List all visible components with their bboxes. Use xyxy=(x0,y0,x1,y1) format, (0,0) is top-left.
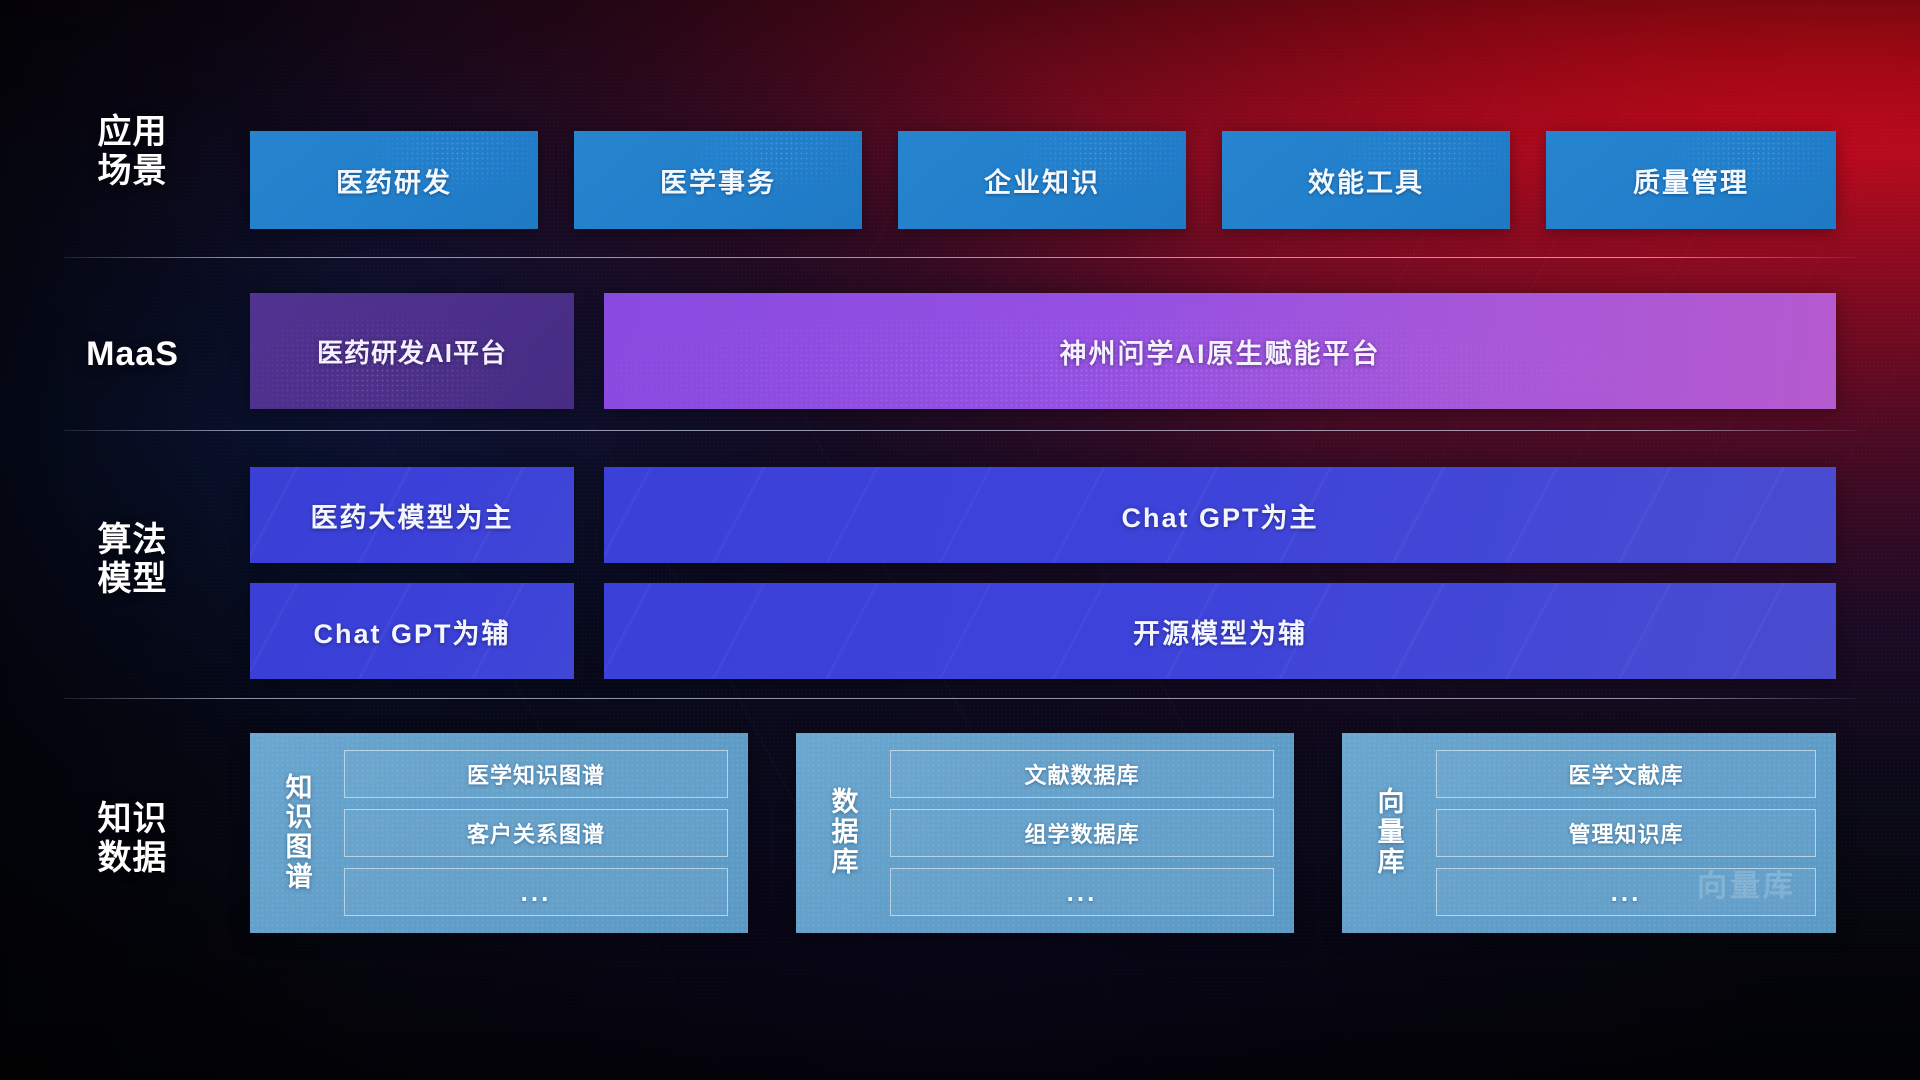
maas-box-label: 医药研发AI平台 xyxy=(317,333,507,370)
vertical-label-char: 量 xyxy=(1360,818,1422,848)
knowledge-item[interactable]: 组学数据库 xyxy=(890,809,1274,857)
app-box-label: 医药研发 xyxy=(336,161,452,200)
algo-box-label: Chat GPT为辅 xyxy=(313,612,510,651)
knowledge-group-vertical-label: 数 据 库 xyxy=(814,788,876,877)
app-box-label: 企业知识 xyxy=(984,161,1100,200)
divider-application-maas xyxy=(64,257,1856,258)
knowledge-item[interactable]: 文献数据库 xyxy=(890,750,1274,798)
knowledge-group-vector-store[interactable]: 向 量 库 医学文献库 管理知识库 ... 向量库 xyxy=(1342,733,1836,933)
row-label-application-line-1: 应用 xyxy=(60,113,205,152)
knowledge-item-more[interactable]: ... xyxy=(890,868,1274,916)
knowledge-item[interactable]: 医学文献库 xyxy=(1436,750,1816,798)
algo-box-chatgpt-primary[interactable]: Chat GPT为主 xyxy=(604,467,1836,563)
maas-box-shenzhou-wenxue-platform[interactable]: 神州问学AI原生赋能平台 xyxy=(604,293,1836,409)
knowledge-group-item-list: 文献数据库 组学数据库 ... xyxy=(890,750,1274,916)
row-label-knowledge: 知识 数据 xyxy=(60,800,205,879)
algo-box-chatgpt-secondary[interactable]: Chat GPT为辅 xyxy=(250,583,574,679)
knowledge-group-item-list: 医学知识图谱 客户关系图谱 ... xyxy=(344,750,728,916)
app-box-label: 质量管理 xyxy=(1633,161,1749,200)
row-label-application-line-2: 场景 xyxy=(60,152,205,191)
vertical-label-char: 知 xyxy=(268,774,330,804)
row-label-algorithm-line-2: 模型 xyxy=(60,560,205,599)
algo-box-opensource-secondary[interactable]: 开源模型为辅 xyxy=(604,583,1836,679)
app-box-efficiency-tools[interactable]: 效能工具 xyxy=(1222,131,1510,229)
divider-maas-algorithm xyxy=(64,430,1856,431)
row-label-maas: MaaS xyxy=(60,335,205,374)
vertical-label-char: 库 xyxy=(814,848,876,878)
row-label-application: 应用 场景 xyxy=(60,113,205,192)
algo-box-label: Chat GPT为主 xyxy=(1121,496,1318,535)
vertical-label-char: 向 xyxy=(1360,788,1422,818)
vertical-label-char: 图 xyxy=(268,833,330,863)
slide-canvas: 应用 场景 医药研发 医学事务 企业知识 效能工具 质量管理 MaaS 医药研发… xyxy=(0,0,1920,1080)
diagram-content: 应用 场景 医药研发 医学事务 企业知识 效能工具 质量管理 MaaS 医药研发… xyxy=(0,0,1920,1080)
maas-box-drug-rd-ai-platform[interactable]: 医药研发AI平台 xyxy=(250,293,574,409)
algo-box-label: 医药大模型为主 xyxy=(311,496,514,535)
app-box-drug-rd[interactable]: 医药研发 xyxy=(250,131,538,229)
algo-box-label: 开源模型为辅 xyxy=(1133,612,1307,651)
vertical-label-char: 识 xyxy=(268,803,330,833)
knowledge-item[interactable]: 客户关系图谱 xyxy=(344,809,728,857)
knowledge-item-more[interactable]: ... xyxy=(1436,868,1816,916)
vertical-label-char: 谱 xyxy=(268,863,330,893)
knowledge-item-more[interactable]: ... xyxy=(344,868,728,916)
knowledge-group-vertical-label: 知 识 图 谱 xyxy=(268,774,330,893)
knowledge-group-item-list: 医学文献库 管理知识库 ... xyxy=(1436,750,1816,916)
knowledge-group-vertical-label: 向 量 库 xyxy=(1360,788,1422,877)
app-box-label: 效能工具 xyxy=(1308,161,1424,200)
row-label-knowledge-line-1: 知识 xyxy=(60,800,205,839)
row-label-maas-line-1: MaaS xyxy=(60,335,205,374)
vertical-label-char: 数 xyxy=(814,788,876,818)
maas-box-label: 神州问学AI原生赋能平台 xyxy=(1060,332,1381,371)
knowledge-group-database[interactable]: 数 据 库 文献数据库 组学数据库 ... xyxy=(796,733,1294,933)
app-box-quality-management[interactable]: 质量管理 xyxy=(1546,131,1836,229)
knowledge-item[interactable]: 管理知识库 xyxy=(1436,809,1816,857)
row-label-algorithm-line-1: 算法 xyxy=(60,521,205,560)
app-box-medical-affairs[interactable]: 医学事务 xyxy=(574,131,862,229)
app-box-enterprise-knowledge[interactable]: 企业知识 xyxy=(898,131,1186,229)
vertical-label-char: 库 xyxy=(1360,848,1422,878)
algo-box-pharma-llm-primary[interactable]: 医药大模型为主 xyxy=(250,467,574,563)
divider-algorithm-knowledge xyxy=(64,698,1856,699)
app-box-label: 医学事务 xyxy=(660,161,776,200)
vertical-label-char: 据 xyxy=(814,818,876,848)
row-label-algorithm: 算法 模型 xyxy=(60,521,205,600)
knowledge-item[interactable]: 医学知识图谱 xyxy=(344,750,728,798)
knowledge-group-knowledge-graph[interactable]: 知 识 图 谱 医学知识图谱 客户关系图谱 ... xyxy=(250,733,748,933)
row-label-knowledge-line-2: 数据 xyxy=(60,839,205,878)
